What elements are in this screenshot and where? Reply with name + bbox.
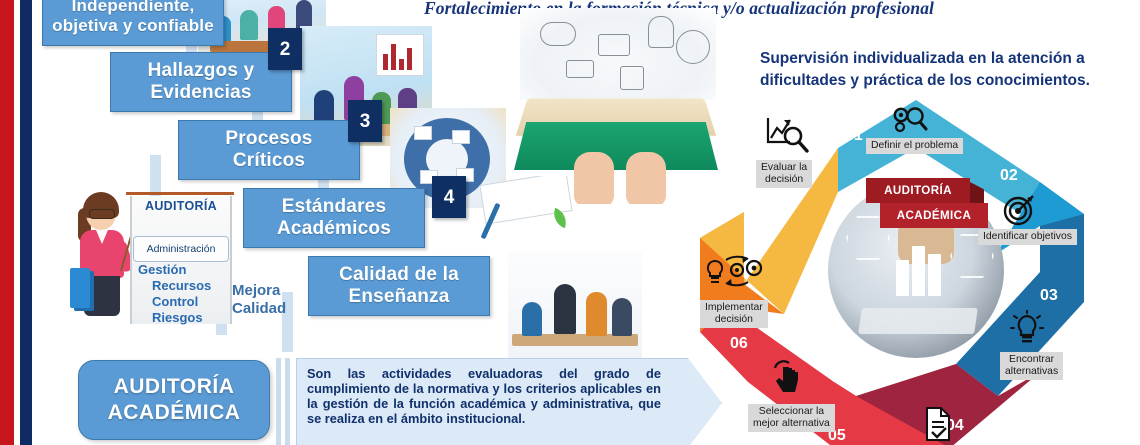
cycle-number-03: 03 bbox=[1040, 288, 1058, 304]
step-box-label: Calidad de la Enseñanza bbox=[339, 264, 459, 309]
definition-arrow-box: Son las actividades evaluadoras del grad… bbox=[296, 358, 722, 445]
document-check-icon bbox=[923, 406, 953, 442]
left-edge-red-stripe bbox=[0, 0, 14, 445]
cycle-label-03: Encontrar alternativas bbox=[1000, 352, 1063, 380]
auditoria-academica-label[interactable]: AUDITORÍA ACADÉMICA bbox=[78, 360, 270, 440]
illustration-teacher-character bbox=[72, 196, 134, 332]
bulb-gears-cycle-icon bbox=[704, 254, 766, 288]
step-number-badge-4: 4 bbox=[432, 176, 466, 218]
step-box-estandares-academicos[interactable]: Estándares Académicos bbox=[243, 188, 425, 248]
cycle-label-06: Implementar decisión bbox=[700, 300, 768, 328]
step-number-badge-3: 3 bbox=[348, 100, 382, 142]
ribbon-line-2: ACADÉMICA bbox=[880, 203, 988, 228]
step-box-label: Independiente, objetiva y confiable bbox=[52, 0, 214, 36]
target-dart-icon bbox=[1002, 192, 1036, 226]
page-subheadline: Supervisión individualizada en la atenci… bbox=[760, 48, 1130, 93]
left-edge-navy-stripe bbox=[20, 0, 32, 445]
whiteboard-list-item: Riesgos bbox=[138, 310, 234, 326]
gears-magnifier-icon bbox=[888, 104, 928, 138]
step-box-calidad-ensenanza[interactable]: Calidad de la Enseñanza bbox=[308, 256, 490, 316]
whiteboard-list-item: Control bbox=[138, 294, 234, 310]
infographic-canvas: Fortalecimiento en la formación técnica … bbox=[0, 0, 1140, 445]
chart-magnifier-icon bbox=[764, 114, 810, 156]
step-box-procesos-criticos[interactable]: Procesos Críticos bbox=[178, 120, 360, 180]
illustration-standing-team bbox=[508, 252, 642, 360]
step-box-label: Procesos Críticos bbox=[225, 128, 312, 173]
cycle-center-ribbon: AUDITORÍA ACADÉMICA bbox=[866, 178, 988, 228]
step-box-independiente[interactable]: Independiente, objetiva y confiable bbox=[42, 0, 224, 46]
step-number-badge-2: 2 bbox=[268, 28, 302, 70]
cycle-number-06: 06 bbox=[730, 336, 748, 352]
whiteboard-list: Gestión Recursos Control Riesgos bbox=[138, 262, 234, 325]
step-box-label: Hallazgos y Evidencias bbox=[148, 60, 255, 105]
whiteboard-list-item: Gestión bbox=[138, 262, 234, 278]
ribbon-line-1: AUDITORÍA bbox=[866, 178, 970, 203]
whiteboard-list-item: Recursos bbox=[138, 278, 234, 294]
step-box-label: Estándares Académicos bbox=[277, 196, 391, 241]
cycle-label-01: Definir el problema bbox=[866, 138, 963, 154]
ribbon-fold bbox=[970, 182, 984, 203]
cycle-label-02: Identificar objetivos bbox=[978, 229, 1077, 245]
cycle-number-02: 02 bbox=[1000, 168, 1018, 184]
whiteboard-chip-administracion: Administración bbox=[133, 236, 229, 262]
arrow-rails bbox=[276, 358, 292, 445]
whiteboard-top-rule bbox=[126, 192, 234, 195]
cursor-hand-icon bbox=[772, 358, 804, 394]
step-box-hallazgos[interactable]: Hallazgos y Evidencias bbox=[110, 52, 292, 112]
whiteboard-side-note: Mejora Calidad bbox=[232, 282, 328, 319]
cycle-label-05: Seleccionar la mejor alternativa bbox=[748, 404, 835, 432]
definition-text: Son las actividades evaluadoras del grad… bbox=[297, 359, 721, 426]
cycle-number-07: 07 bbox=[744, 196, 762, 212]
whiteboard-title: AUDITORÍA bbox=[136, 200, 226, 213]
lightbulb-icon bbox=[1010, 310, 1044, 346]
cycle-label-07: Evaluar la decisión bbox=[756, 160, 812, 188]
cycle-number-01: 01 bbox=[845, 128, 863, 144]
